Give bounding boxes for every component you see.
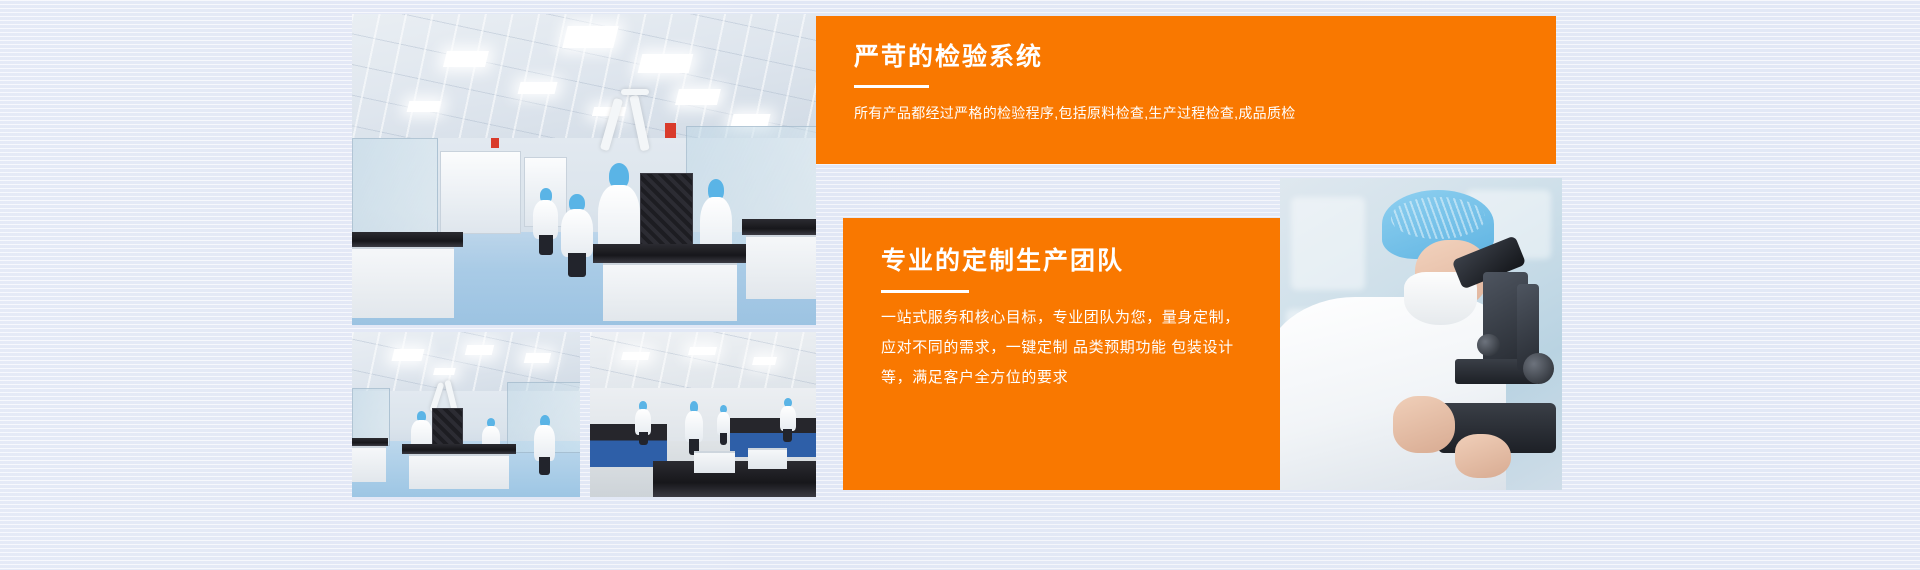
microscope-focus-knob bbox=[1523, 353, 1554, 384]
background-blur-shape bbox=[1291, 197, 1364, 291]
lab-worker bbox=[635, 401, 651, 444]
ceiling-light bbox=[524, 353, 552, 363]
ceiling-light bbox=[563, 26, 619, 48]
instrument-box bbox=[694, 451, 735, 473]
bench-cabinet bbox=[352, 446, 386, 483]
safety-sign bbox=[665, 123, 676, 139]
photo-lab-b bbox=[352, 332, 580, 497]
lab-bench bbox=[352, 232, 463, 248]
panel-inspection-description: 所有产品都经过严格的检验程序,包括原料检查,生产过程检查,成品质检 bbox=[854, 102, 1556, 124]
bench-cabinet bbox=[352, 247, 454, 317]
analyzer-unit bbox=[640, 173, 693, 250]
photo-lab-main bbox=[352, 14, 816, 325]
ceiling-light bbox=[392, 349, 425, 361]
lab-bench bbox=[742, 219, 816, 235]
lab-worker bbox=[534, 415, 555, 474]
bench-cabinet bbox=[746, 235, 816, 299]
bench-cabinet bbox=[409, 454, 509, 489]
bench-cabinet bbox=[603, 263, 738, 321]
ceiling-light bbox=[443, 51, 489, 67]
ceiling-light bbox=[675, 89, 721, 105]
safety-sign bbox=[491, 138, 498, 147]
panel-inspection-rule bbox=[854, 85, 929, 88]
content-stage: 严苛的检验系统 所有产品都经过严格的检验程序,包括原料检查,生产过程检查,成品质… bbox=[0, 0, 1920, 570]
lab-worker bbox=[780, 398, 796, 441]
panel-inspection: 严苛的检验系统 所有产品都经过严格的检验程序,包括原料检查,生产过程检查,成品质… bbox=[816, 16, 1556, 164]
instrument-box bbox=[748, 448, 786, 470]
analyzer-unit bbox=[432, 408, 464, 446]
lab-worker bbox=[717, 405, 731, 445]
ceiling-light bbox=[688, 347, 717, 355]
ceiling-light bbox=[465, 345, 495, 355]
ceiling-light bbox=[637, 54, 693, 73]
lab-bench bbox=[402, 444, 516, 454]
lab-bench bbox=[593, 244, 746, 263]
technician-hand bbox=[1393, 396, 1455, 452]
lab-worker bbox=[533, 188, 559, 253]
lab-bench bbox=[352, 438, 388, 446]
lab-bench bbox=[653, 461, 816, 497]
panel-team-description: 一站式服务和核心目标，专业团队为您，量身定制，应对不同的需求，一键定制 品类预期… bbox=[881, 303, 1243, 393]
panel-inspection-title: 严苛的检验系统 bbox=[854, 42, 1556, 72]
panel-team-title: 专业的定制生产团队 bbox=[881, 246, 1280, 276]
ceiling-light bbox=[517, 82, 557, 94]
photo-microscope bbox=[1280, 178, 1562, 490]
ceiling-light bbox=[433, 368, 455, 375]
ceiling-light bbox=[731, 114, 771, 126]
ceiling-light bbox=[752, 357, 777, 365]
fume-hood bbox=[440, 151, 521, 234]
microscope-objective bbox=[1477, 334, 1500, 356]
panel-team-rule bbox=[881, 290, 969, 293]
lab-worker bbox=[561, 194, 593, 275]
glass-partition bbox=[352, 138, 438, 246]
panel-team: 专业的定制生产团队 一站式服务和核心目标，专业团队为您，量身定制，应对不同的需求… bbox=[843, 218, 1280, 490]
technician-hand bbox=[1455, 434, 1511, 478]
photo-lab-c bbox=[590, 332, 816, 497]
articulated-arm bbox=[621, 89, 649, 95]
lab-worker bbox=[685, 401, 703, 454]
ceiling-light bbox=[621, 352, 650, 360]
ceiling-light bbox=[406, 101, 441, 112]
